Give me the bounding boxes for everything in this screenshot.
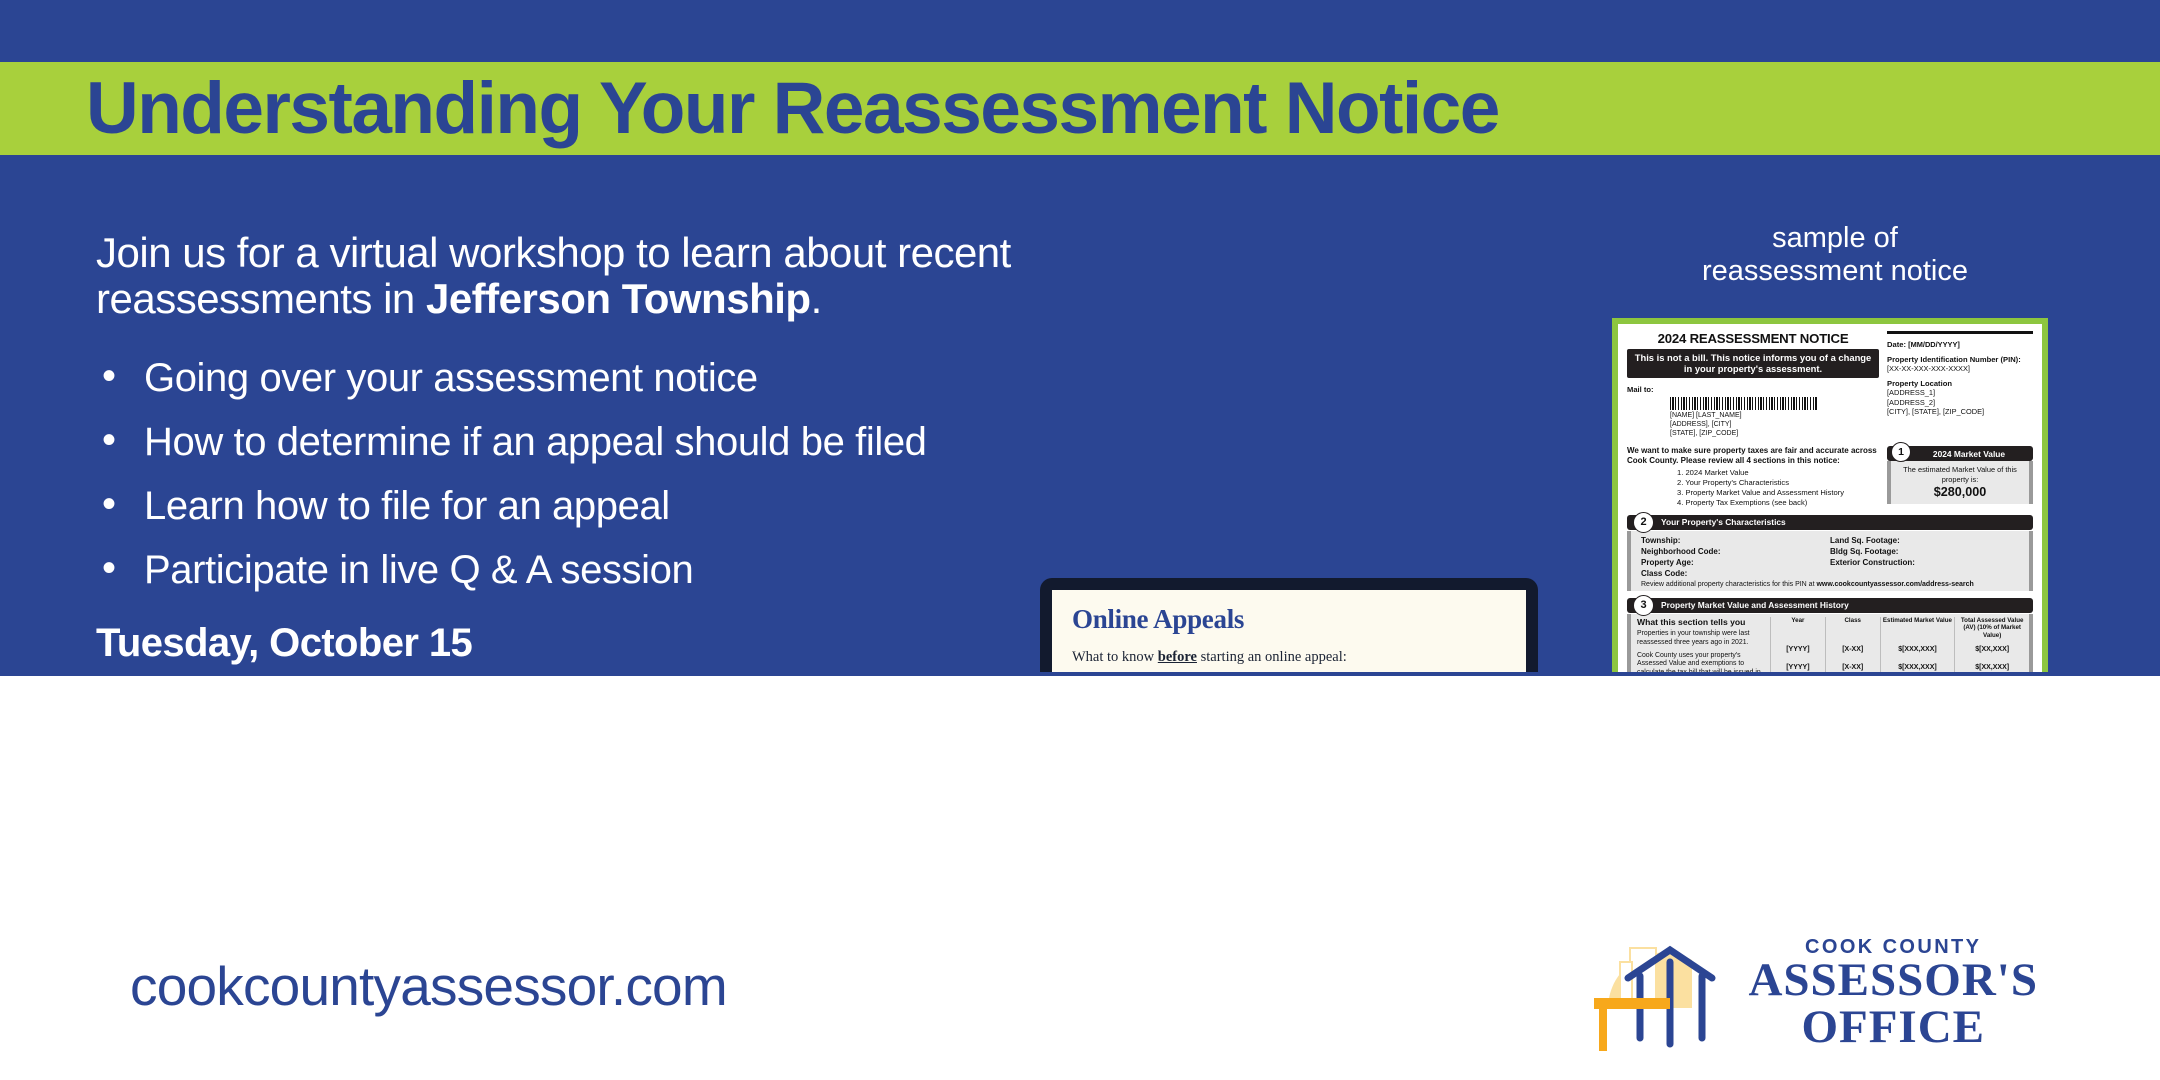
section-3-header: 3 Property Market Value and Assessment H… xyxy=(1627,598,2033,613)
list-item: Going over your assessment notice xyxy=(96,356,1106,400)
sample-notice-document: 2024 REASSESSMENT NOTICE This is not a b… xyxy=(1612,318,2048,658)
subtitle-emphasis: before xyxy=(1158,649,1197,665)
online-appeals-title: Online Appeals xyxy=(1072,604,1506,635)
property-location-label: Property Location xyxy=(1887,379,2033,388)
intro-paragraph: Join us for a virtual workshop to learn … xyxy=(96,230,1106,322)
logo-wordmark: COOK COUNTY ASSESSOR'S OFFICE xyxy=(1748,937,2038,1050)
characteristic-label: Class Code: xyxy=(1641,568,1830,579)
subtitle-after: starting an online appeal: xyxy=(1197,649,1347,665)
notice-title: 2024 REASSESSMENT NOTICE xyxy=(1627,331,1879,346)
notice-midsection: We want to make sure property taxes are … xyxy=(1627,446,2033,507)
section-2-number: 2 xyxy=(1633,512,1654,533)
characteristic-label: Exterior Construction: xyxy=(1830,557,2019,568)
table-cell: [YYYY] xyxy=(1773,641,1823,659)
review-item: 1. 2024 Market Value xyxy=(1677,468,1879,478)
review-item: 4. Property Tax Exemptions (see back) xyxy=(1677,498,1879,508)
column-header: Total Assessed Value (AV) (10% of Market… xyxy=(1957,617,2027,641)
table-cell: [X-XX] xyxy=(1828,641,1878,659)
table-cell: $[XXX,XXX] xyxy=(1883,641,1953,659)
section-3-number: 3 xyxy=(1633,595,1654,616)
characteristics-panel: Township: Neighborhood Code: Property Ag… xyxy=(1627,531,2033,591)
section-1-number: 1 xyxy=(1891,442,1911,462)
notice-banner: This is not a bill. This notice informs … xyxy=(1627,349,1879,378)
history-explainer-p1: Properties in your township were last re… xyxy=(1637,630,1764,648)
section-1-header: 1 2024 Market Value xyxy=(1887,446,2033,461)
property-location-line: [ADDRESS_1] xyxy=(1887,388,2033,398)
footer-top-rule xyxy=(0,672,2160,676)
section-3-heading: Property Market Value and Assessment His… xyxy=(1661,600,1849,610)
table-cell: $[XX,XXX] xyxy=(1957,641,2027,659)
sample-caption-line2: reassessment notice xyxy=(1610,255,2060,288)
mail-line: [NAME] [LAST_NAME] xyxy=(1670,411,1879,420)
review-item: 3. Property Market Value and Assessment … xyxy=(1677,488,1879,498)
characteristics-footnote-link[interactable]: www.cookcountyassessor.com/address-searc… xyxy=(1816,581,1973,588)
logo-mark-icon xyxy=(1580,934,1738,1054)
online-appeals-subtitle: What to know before starting an online a… xyxy=(1072,649,1506,666)
characteristic-label: Bldg Sq. Footage: xyxy=(1830,546,2019,557)
subtitle-before: What to know xyxy=(1072,649,1158,665)
characteristic-label: Township: xyxy=(1641,535,1830,546)
notice-date-value: [MM/DD/YYYY] xyxy=(1908,340,1960,349)
intro-text-after: . xyxy=(811,275,822,322)
list-item: Participate in live Q & A session xyxy=(96,548,1106,592)
mail-line: [ADDRESS], [CITY] xyxy=(1670,420,1879,429)
header-rule-divider xyxy=(1887,331,2033,334)
section-1-heading: 2024 Market Value xyxy=(1933,449,2005,459)
column-header: Estimated Market Value xyxy=(1883,617,1953,641)
pin-label: Property Identification Number (PIN): xyxy=(1887,355,2033,364)
footer-bar: cookcountyassessor.com COOK C xyxy=(0,672,2160,1080)
pin-value: [XX-XX-XXX-XXX-XXXX] xyxy=(1887,364,2033,374)
barcode-icon xyxy=(1670,397,1818,410)
sample-caption-line1: sample of xyxy=(1610,222,2060,255)
title-banner: Understanding Your Reassessment Notice xyxy=(0,62,2160,155)
history-explainer-title: What this section tells you xyxy=(1637,617,1764,627)
market-value-amount: $280,000 xyxy=(1893,485,2027,499)
poster-canvas: Understanding Your Reassessment Notice J… xyxy=(0,0,2160,1080)
page-title: Understanding Your Reassessment Notice xyxy=(0,72,1499,145)
market-value-panel: The estimated Market Value of this prope… xyxy=(1887,461,2033,504)
list-item: How to determine if an appeal should be … xyxy=(96,420,1106,464)
property-location-line: [CITY], [STATE], [ZIP_CODE] xyxy=(1887,407,2033,417)
review-item: 2. Your Property's Characteristics xyxy=(1677,478,1879,488)
assessor-office-logo: COOK COUNTY ASSESSOR'S OFFICE xyxy=(1580,934,2038,1054)
review-note: We want to make sure property taxes are … xyxy=(1627,446,1879,466)
characteristics-left-column: Township: Neighborhood Code: Property Ag… xyxy=(1641,535,1830,579)
intro-township: Jefferson Township xyxy=(426,275,811,322)
notice-date-row: Date: [MM/DD/YYYY] xyxy=(1887,340,2033,350)
notice-header: 2024 REASSESSMENT NOTICE This is not a b… xyxy=(1627,331,2033,438)
notice-date-label: Date: xyxy=(1887,340,1906,349)
characteristic-label: Neighborhood Code: xyxy=(1641,546,1830,557)
column-header: Class xyxy=(1828,617,1878,641)
characteristic-label: Property Age: xyxy=(1641,557,1830,568)
section-2-heading: Your Property's Characteristics xyxy=(1661,517,1786,527)
list-item: Learn how to file for an appeal xyxy=(96,484,1106,528)
logo-line-office: OFFICE xyxy=(1748,1004,2038,1051)
website-url[interactable]: cookcountyassessor.com xyxy=(130,954,727,1018)
characteristics-footnote: Review additional property characteristi… xyxy=(1641,581,2019,588)
topic-bullet-list: Going over your assessment notice How to… xyxy=(96,356,1106,592)
property-location-line: [ADDRESS_2] xyxy=(1887,398,2033,408)
review-items-list: 1. 2024 Market Value 2. Your Property's … xyxy=(1677,468,1879,507)
characteristic-label: Land Sq. Footage: xyxy=(1830,535,2019,546)
mail-address-block: [NAME] [LAST_NAME] [ADDRESS], [CITY] [ST… xyxy=(1670,411,1879,438)
mail-line: [STATE], [ZIP_CODE] xyxy=(1670,429,1879,438)
mail-to-label: Mail to: xyxy=(1627,385,1879,394)
event-date: Tuesday, October 15 xyxy=(96,620,1106,666)
characteristics-right-column: Land Sq. Footage: Bldg Sq. Footage: Exte… xyxy=(1830,535,2019,579)
logo-line-assessors: ASSESSOR'S xyxy=(1748,957,2038,1004)
sample-notice-caption: sample of reassessment notice xyxy=(1610,222,2060,289)
section-2-header: 2 Your Property's Characteristics xyxy=(1627,515,2033,530)
market-value-description: The estimated Market Value of this prope… xyxy=(1893,465,2027,484)
characteristics-footnote-text: Review additional property characteristi… xyxy=(1641,581,1816,588)
column-header: Year xyxy=(1773,617,1823,641)
